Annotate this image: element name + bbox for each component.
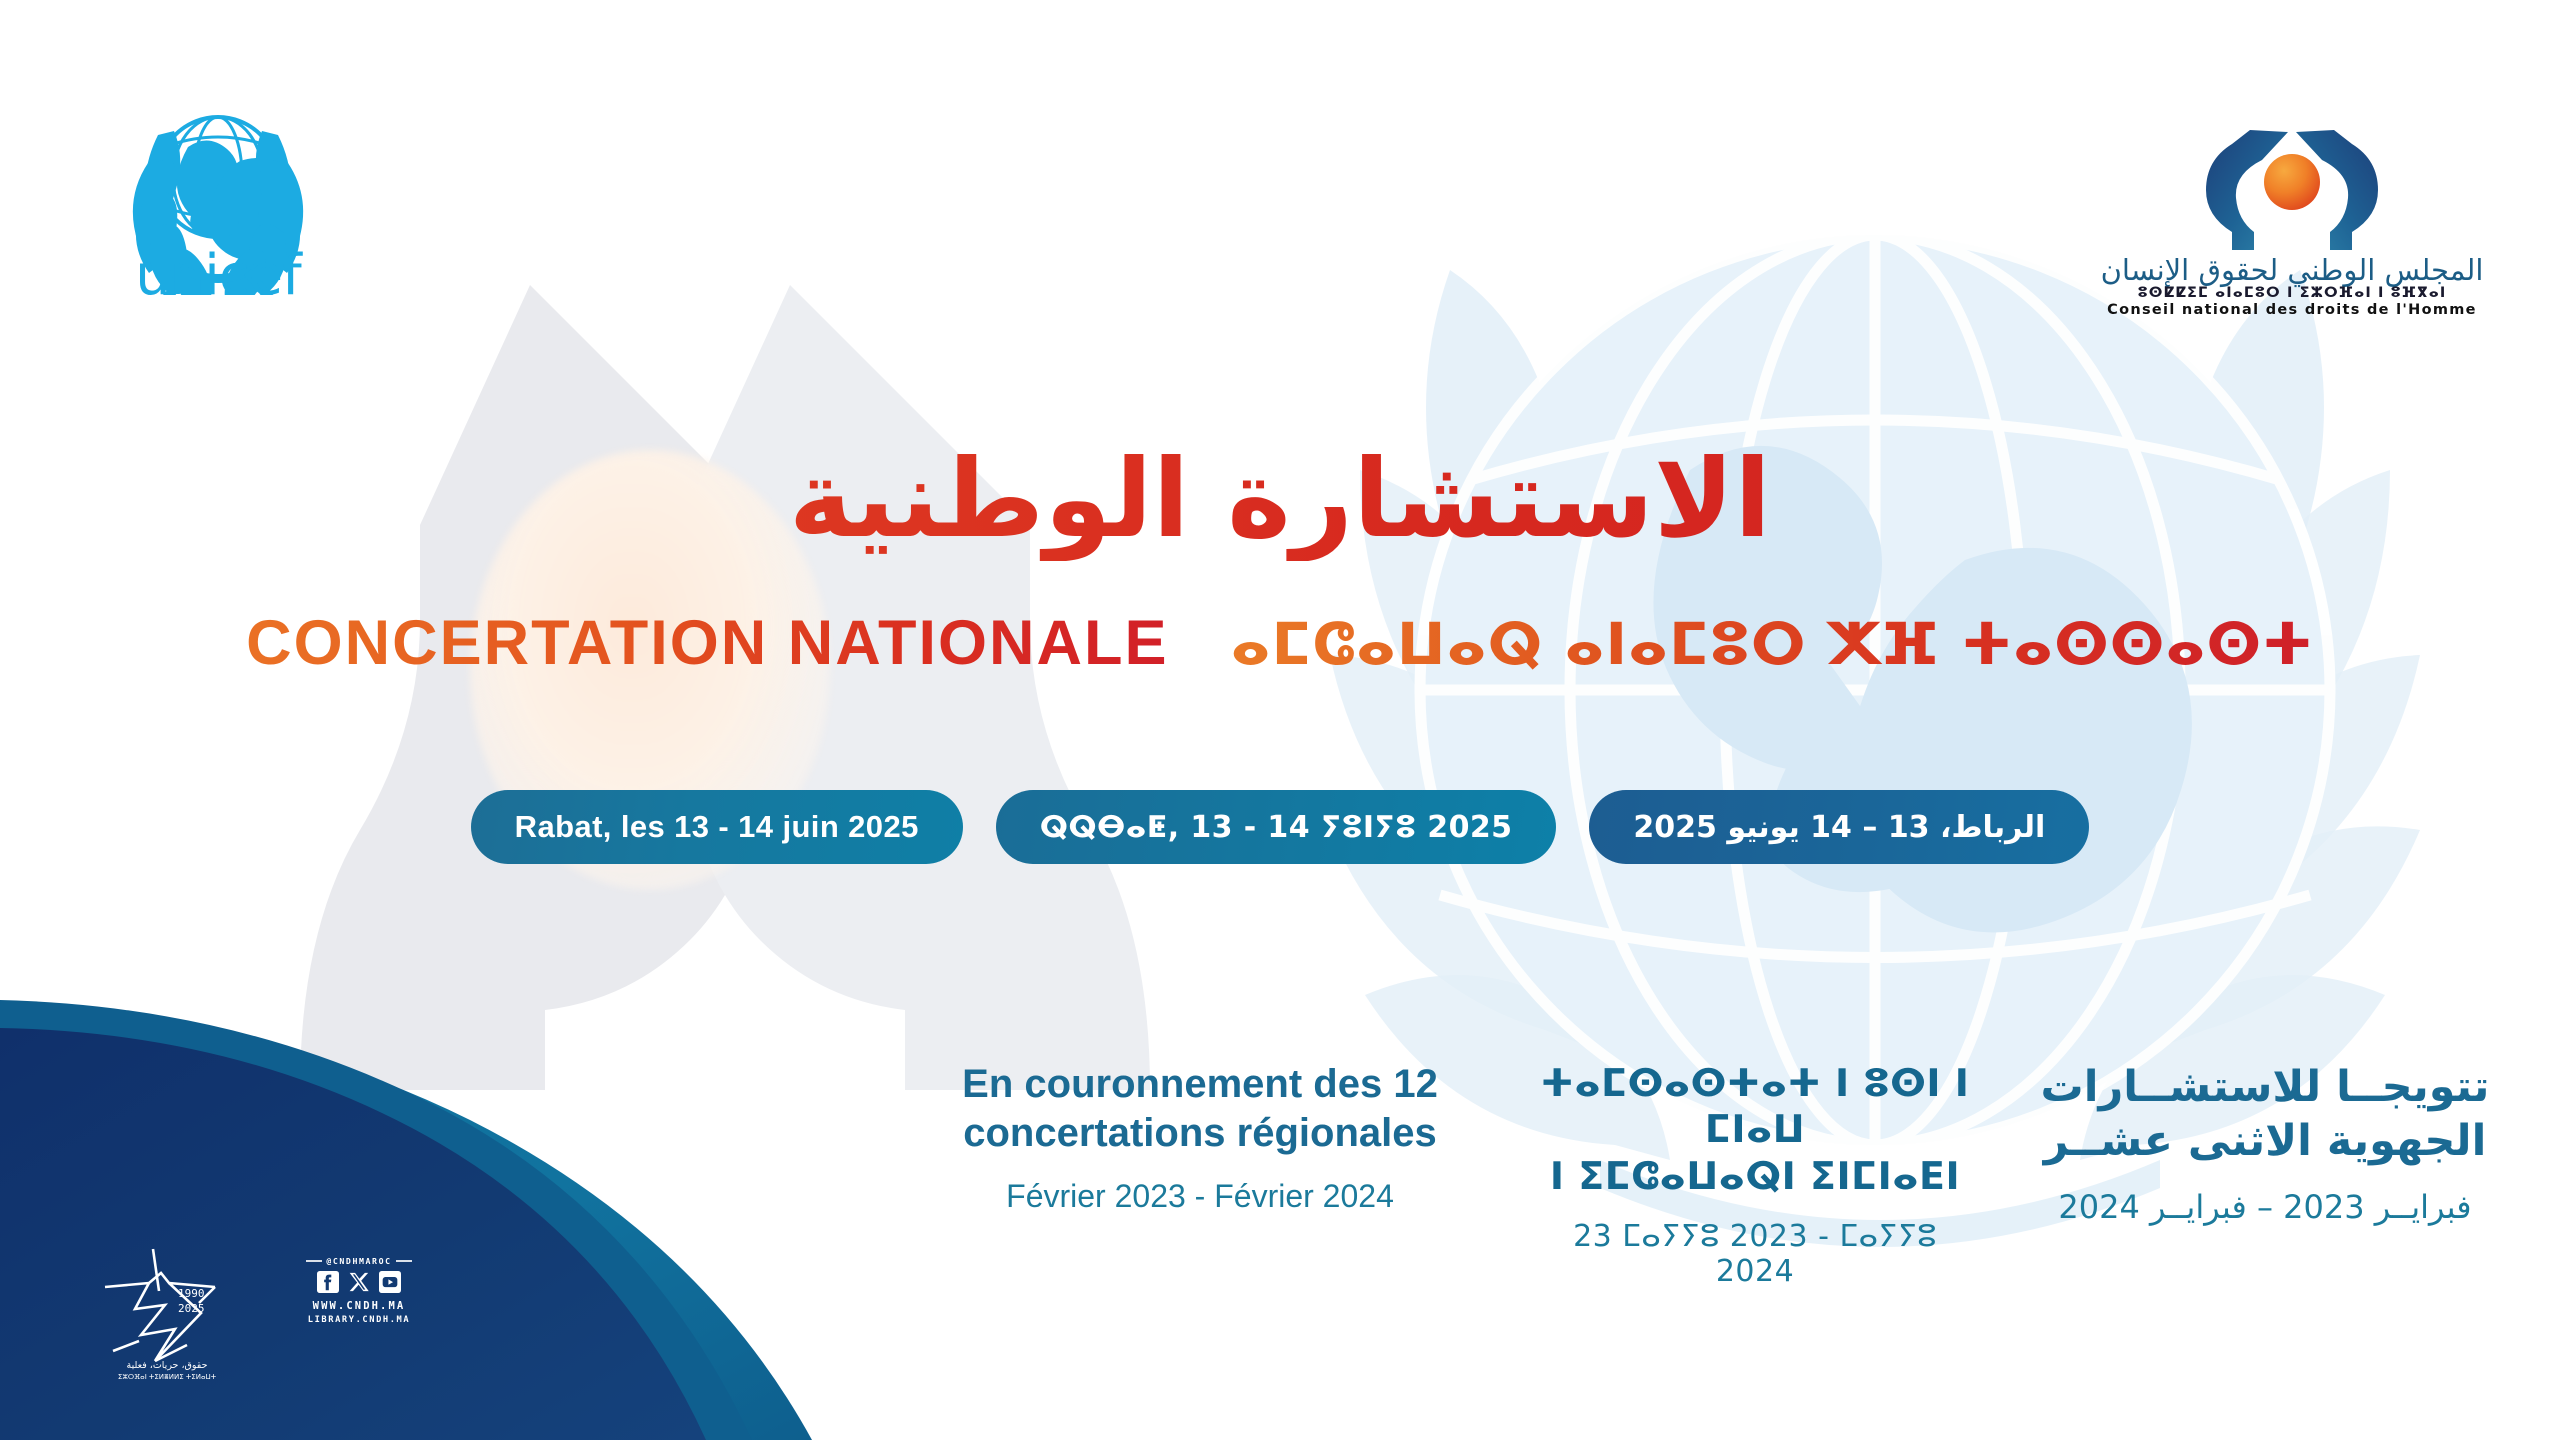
social-links-block: @CNDHMAROC WWW.CNDH.MA LIBRARY.CNDH.MA bbox=[296, 1256, 422, 1327]
footer-text-row: En couronnement des 12 concertations rég… bbox=[780, 1060, 2490, 1289]
cndh-french-name: Conseil national des droits de l'Homme bbox=[2082, 302, 2502, 319]
handle-dash-right-icon bbox=[396, 1260, 412, 1261]
footer-arabic-period: فبرايــر 2023 – فبرايــر 2024 bbox=[2040, 1188, 2490, 1226]
date-pill-tifinagh[interactable]: ⵕⵕⴱⴰⵟ, 13 - 14 ⵢⵓⵏⵢⵓ 2025 bbox=[996, 790, 1557, 864]
date-pill-arabic[interactable]: الرباط، 13 – 14 يونيو 2025 bbox=[1589, 790, 2089, 864]
website-url[interactable]: WWW.CNDH.MA bbox=[296, 1299, 422, 1314]
youtube-icon[interactable] bbox=[379, 1271, 401, 1293]
badge-year-from: 1990 bbox=[178, 1287, 205, 1300]
footer-tifinagh-heading-line1: ⵜⴰⵎⵙⴰⵙⵜⴰⵜ ⵏ ⵓⵙⵏ ⵏ ⵎⵏⴰⵡ bbox=[1530, 1060, 1980, 1153]
footer-arabic-heading-line1: تتويجــا للاستشــارات bbox=[2040, 1060, 2490, 1114]
cndh-tifinagh-name: ⵓⵙⵇⵇⵉⵎ ⴰⵏⴰⵎⵓⵔ ⵏ ⵉⵣⵔⴼⴰⵏ ⵏ ⵓⴼⴳⴰⵏ bbox=[2082, 285, 2502, 302]
library-url[interactable]: LIBRARY.CNDH.MA bbox=[296, 1314, 422, 1327]
cndh-arabic-name: المجلس الوطني لحقوق الإنسان bbox=[2082, 255, 2502, 285]
grey-spade-watermark bbox=[300, 285, 1150, 1090]
page-title-tifinagh: ⴰⵎⵛⴰⵡⴰⵕ ⴰⵏⴰⵎⵓⵔ ⵅⴼ ⵜⴰⵙⵙⴰⵙⵜ bbox=[1231, 615, 2314, 673]
handle-dash-left-icon bbox=[306, 1260, 322, 1261]
footer-block-french: En couronnement des 12 concertations rég… bbox=[930, 1060, 1470, 1215]
footer-arabic-heading-line2: الجهوية الاثنى عشــر bbox=[2040, 1114, 2490, 1168]
social-handle-row: @CNDHMAROC bbox=[296, 1256, 422, 1266]
footer-block-arabic: تتويجــا للاستشــارات الجهوية الاثنى عشـ… bbox=[2040, 1060, 2490, 1226]
footer-french-heading-line2: concertations régionales bbox=[930, 1109, 1470, 1158]
badge-tifinagh-tagline: ⵉⵣⵔⴼⴰⵏ ⵜⵉⵍⴻⵍⵍⵉ ⵜⵉⵍⴰⵡⵜ bbox=[118, 1373, 217, 1381]
cndh-emblem-icon bbox=[2192, 128, 2392, 253]
x-twitter-icon[interactable] bbox=[348, 1271, 370, 1293]
anniversary-35-badge-icon: 1990 2025 حقوق، حريات، فعلية ⵉⵣⵔⴼⴰⵏ ⵜⵉⵍⴻ… bbox=[95, 1243, 240, 1393]
page-title-row: CONCERTATION NATIONALE ⴰⵎⵛⴰⵡⴰⵕ ⴰⵏⴰⵎⵓⵔ ⵅⴼ… bbox=[0, 612, 2560, 675]
cndh-logo: المجلس الوطني لحقوق الإنسان ⵓⵙⵇⵇⵉⵎ ⴰⵏⴰⵎⵓ… bbox=[2082, 128, 2502, 319]
social-handle: @CNDHMAROC bbox=[326, 1256, 391, 1266]
facebook-icon[interactable] bbox=[317, 1271, 339, 1293]
footer-french-period: Février 2023 - Février 2024 bbox=[930, 1178, 1470, 1215]
date-pill-french[interactable]: Rabat, les 13 - 14 juin 2025 bbox=[471, 790, 963, 864]
footer-tifinagh-heading-line2: ⵏ ⵉⵎⵛⴰⵡⴰⵕⵏ ⵉⵏⵎⵏⴰⴹⵏ bbox=[1530, 1153, 1980, 1199]
footer-tifinagh-period: 23 ⵎⴰⵢⵢⵓ 2023 - ⵎⴰⵢⵢⵓ 2024 bbox=[1530, 1219, 1980, 1289]
badge-arabic-tagline: حقوق، حريات، فعلية bbox=[127, 1360, 208, 1371]
social-icon-row bbox=[296, 1271, 422, 1293]
footer-french-heading-line1: En couronnement des 12 bbox=[930, 1060, 1470, 1109]
page-title-arabic: الاستشارة الوطنية bbox=[0, 440, 2560, 561]
poster-canvas: unicef bbox=[0, 0, 2560, 1440]
badge-year-to: 2025 bbox=[178, 1302, 205, 1315]
date-pill-row: Rabat, les 13 - 14 juin 2025 ⵕⵕⴱⴰⵟ, 13 -… bbox=[0, 790, 2560, 864]
footer-block-tifinagh: ⵜⴰⵎⵙⴰⵙⵜⴰⵜ ⵏ ⵓⵙⵏ ⵏ ⵎⵏⴰⵡ ⵏ ⵉⵎⵛⴰⵡⴰⵕⵏ ⵉⵏⵎⵏⴰⴹ… bbox=[1530, 1060, 1980, 1289]
page-title-french: CONCERTATION NATIONALE bbox=[246, 612, 1168, 675]
unicef-wordmark: unicef bbox=[118, 248, 318, 304]
